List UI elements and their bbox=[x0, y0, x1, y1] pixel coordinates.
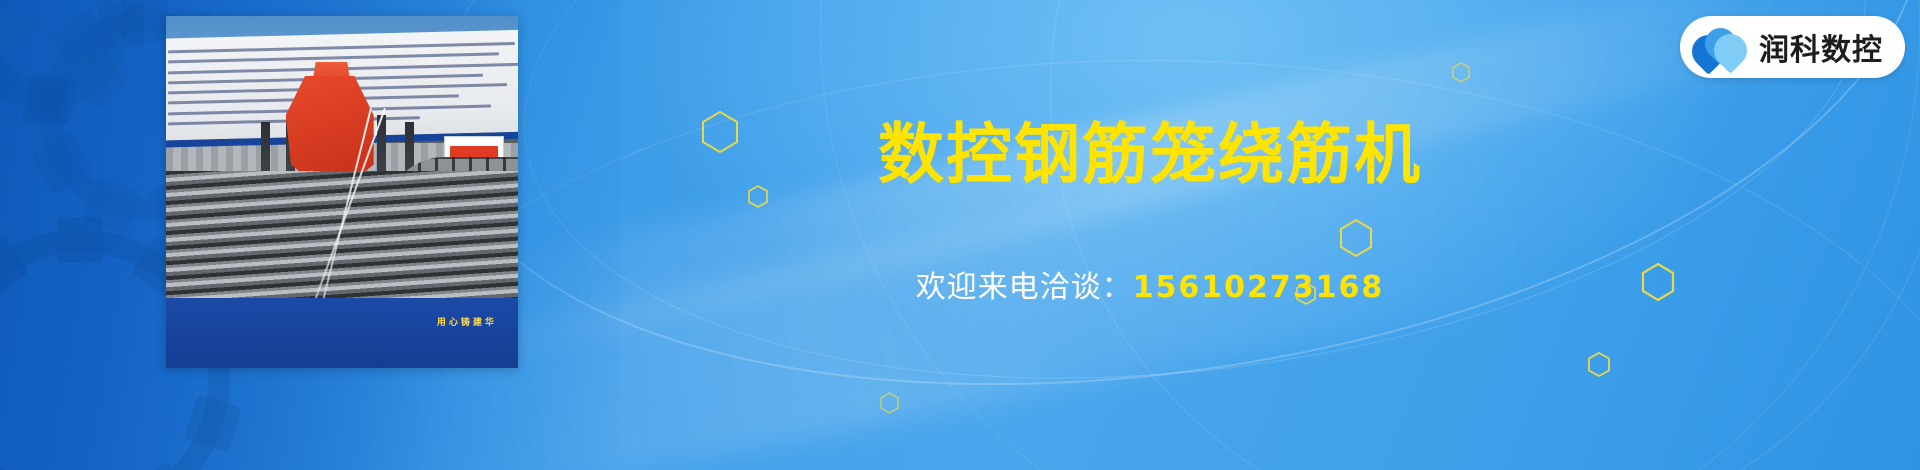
contact-phone[interactable]: 15610273168 bbox=[1133, 270, 1385, 305]
hexagon-decor-6 bbox=[1588, 352, 1610, 377]
hexagon-decor-1 bbox=[700, 110, 740, 154]
contact-label: 欢迎来电洽谈： bbox=[916, 270, 1133, 305]
brand-name: 润科数控 bbox=[1759, 25, 1883, 69]
page-title: 数控钢筋笼绕筋机 bbox=[760, 120, 1540, 190]
hexagon-decor-7 bbox=[1452, 62, 1470, 83]
photo-signboard-text: 用心铸建华 bbox=[437, 315, 497, 328]
headline-block: 数控钢筋笼绕筋机 欢迎来电洽谈：15610273168 bbox=[760, 120, 1540, 306]
promo-banner: 用心铸建华 数控钢筋笼绕筋机 欢迎来电洽谈：15610273168 bbox=[0, 0, 1920, 470]
hexagon-decor-8 bbox=[880, 392, 899, 414]
brand-logo[interactable]: 润科数控 bbox=[1680, 16, 1905, 78]
photo-signboard-banner: 用心铸建华 bbox=[166, 298, 518, 368]
contact-line: 欢迎来电洽谈：15610273168 bbox=[760, 262, 1540, 306]
cloud-petal-icon bbox=[1692, 26, 1748, 68]
hexagon-decor-5 bbox=[1640, 262, 1676, 302]
product-photo: 用心铸建华 bbox=[166, 16, 518, 368]
